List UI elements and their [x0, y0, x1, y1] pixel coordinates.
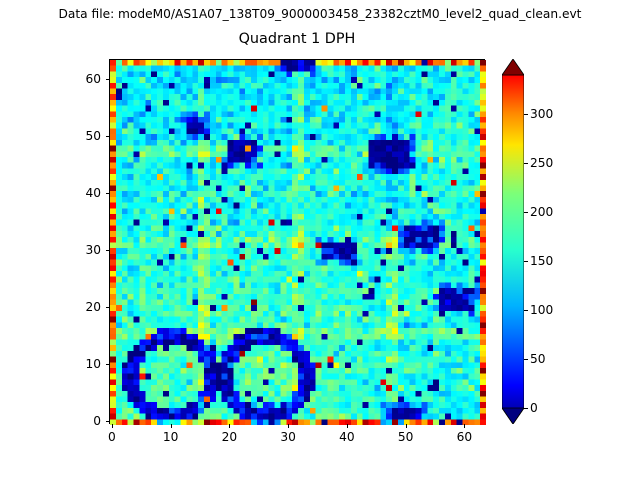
colorbar-tick-label: 250 — [530, 156, 553, 170]
colorbar-gradient — [502, 59, 524, 424]
x-tick-label: 10 — [163, 430, 179, 444]
x-tick-mark — [112, 424, 113, 428]
x-tick-label: 0 — [108, 430, 116, 444]
y-tick-mark — [106, 79, 110, 80]
colorbar[interactable] — [502, 59, 524, 424]
y-tick-mark — [106, 193, 110, 194]
dph-heatmap-image[interactable] — [110, 60, 486, 425]
y-tick-mark — [106, 136, 110, 137]
x-tick-label: 50 — [398, 430, 414, 444]
figure-canvas: Data file: modeM0/AS1A07_138T09_90000034… — [0, 0, 640, 480]
colorbar-tick-mark — [524, 359, 528, 360]
y-tick-mark — [106, 364, 110, 365]
x-tick-mark — [229, 424, 230, 428]
y-tick-label: 0 — [0, 414, 101, 428]
y-tick-mark — [106, 421, 110, 422]
x-tick-label: 20 — [222, 430, 238, 444]
colorbar-tick-label: 150 — [530, 254, 553, 268]
x-tick-mark — [288, 424, 289, 428]
data-file-suptitle: Data file: modeM0/AS1A07_138T09_90000034… — [0, 7, 640, 21]
x-tick-label: 40 — [339, 430, 355, 444]
colorbar-tick-label: 0 — [530, 401, 538, 415]
y-tick-mark — [106, 250, 110, 251]
colorbar-tick-label: 50 — [530, 352, 546, 366]
y-tick-label: 40 — [0, 186, 101, 200]
colorbar-extend-bottom-arrow — [502, 408, 524, 424]
y-tick-label: 50 — [0, 129, 101, 143]
x-tick-mark — [464, 424, 465, 428]
y-tick-label: 60 — [0, 72, 101, 86]
colorbar-tick-mark — [524, 163, 528, 164]
y-tick-label: 10 — [0, 357, 101, 371]
y-tick-label: 30 — [0, 243, 101, 257]
colorbar-tick-mark — [524, 114, 528, 115]
x-tick-mark — [347, 424, 348, 428]
x-tick-mark — [171, 424, 172, 428]
y-tick-label: 20 — [0, 300, 101, 314]
colorbar-extend-top-arrow — [502, 59, 524, 75]
x-tick-label: 30 — [280, 430, 296, 444]
colorbar-tick-mark — [524, 212, 528, 213]
colorbar-tick-label: 200 — [530, 205, 553, 219]
colorbar-tick-label: 100 — [530, 303, 553, 317]
colorbar-tick-label: 300 — [530, 107, 553, 121]
x-tick-label: 60 — [457, 430, 473, 444]
colorbar-tick-mark — [524, 261, 528, 262]
page-title: Quadrant 1 DPH — [109, 31, 485, 48]
x-tick-mark — [406, 424, 407, 428]
colorbar-tick-mark — [524, 408, 528, 409]
heatmap-axes[interactable] — [109, 59, 485, 424]
colorbar-tick-mark — [524, 310, 528, 311]
y-tick-mark — [106, 307, 110, 308]
